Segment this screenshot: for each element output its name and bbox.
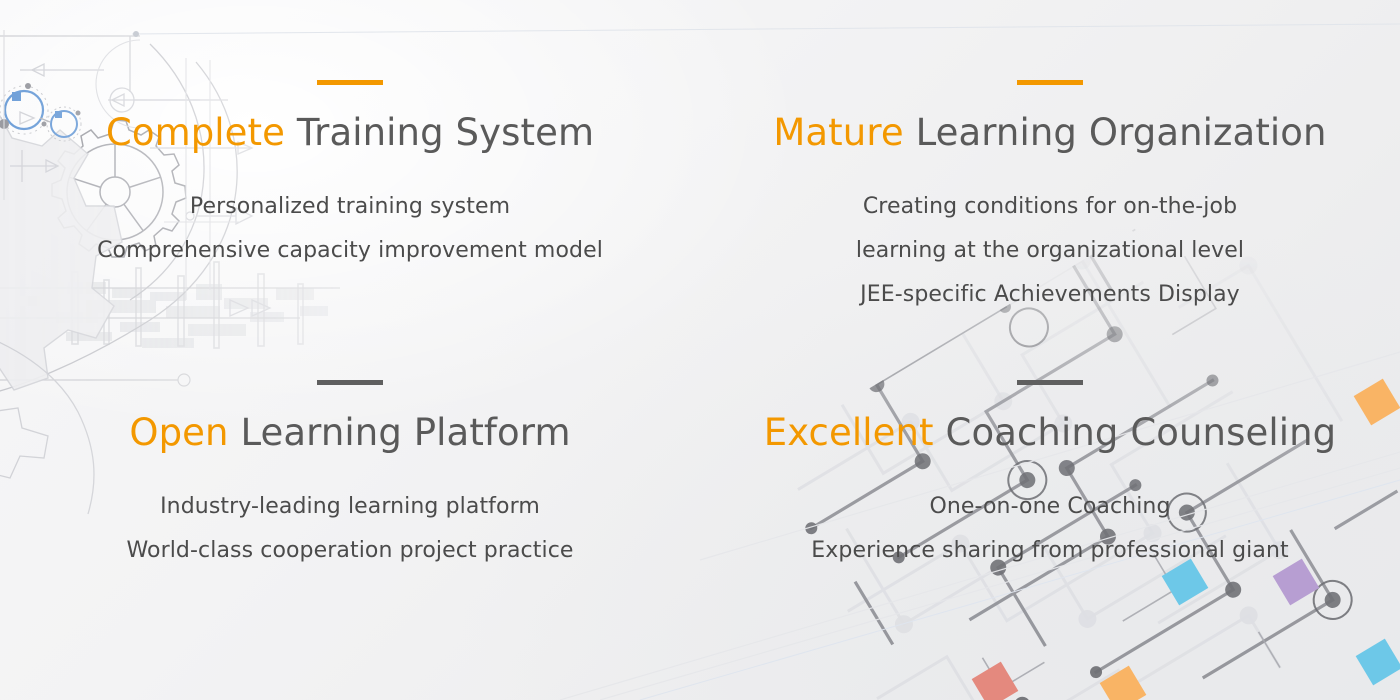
panel-line: JEE-specific Achievements Display <box>860 273 1240 317</box>
panel-lines: Industry-leading learning platform World… <box>126 485 573 573</box>
panel-open-learning-platform: Open Learning Platform Industry-leading … <box>0 350 700 700</box>
panel-line: Creating conditions for on-the-job <box>863 185 1237 229</box>
panel-lines: One-on-one Coaching Experience sharing f… <box>811 485 1288 573</box>
panel-lines: Personalized training system Comprehensi… <box>97 185 603 273</box>
panel-line: One-on-one Coaching <box>929 485 1170 529</box>
panel-title-highlight: Open <box>129 411 228 454</box>
panel-title-rest: Learning Platform <box>229 411 571 454</box>
panel-divider <box>317 80 383 85</box>
panel-title-rest: Learning Organization <box>904 111 1327 154</box>
panel-title: Complete Training System <box>106 114 594 151</box>
panel-title: Open Learning Platform <box>129 414 570 451</box>
panel-divider <box>1017 80 1083 85</box>
panel-line: Experience sharing from professional gia… <box>811 529 1288 573</box>
panel-divider <box>317 380 383 385</box>
panel-title-highlight: Mature <box>773 111 903 154</box>
panel-complete-training-system: Complete Training System Personalized tr… <box>0 0 700 350</box>
panel-line: Personalized training system <box>190 185 510 229</box>
panel-title: Excellent Coaching Counseling <box>764 414 1337 451</box>
panel-lines: Creating conditions for on-the-job learn… <box>856 185 1244 317</box>
panel-line: learning at the organizational level <box>856 229 1244 273</box>
panel-title-rest: Training System <box>285 111 594 154</box>
panel-title-highlight: Excellent <box>764 411 934 454</box>
feature-grid: Complete Training System Personalized tr… <box>0 0 1400 700</box>
panel-line: Comprehensive capacity improvement model <box>97 229 603 273</box>
panel-title-rest: Coaching Counseling <box>934 411 1337 454</box>
slide-canvas: Complete Training System Personalized tr… <box>0 0 1400 700</box>
panel-line: World-class cooperation project practice <box>126 529 573 573</box>
panel-title: Mature Learning Organization <box>773 114 1326 151</box>
panel-title-highlight: Complete <box>106 111 285 154</box>
panel-divider <box>1017 380 1083 385</box>
panel-mature-learning-organization: Mature Learning Organization Creating co… <box>700 0 1400 350</box>
panel-excellent-coaching-counseling: Excellent Coaching Counseling One-on-one… <box>700 350 1400 700</box>
panel-line: Industry-leading learning platform <box>160 485 540 529</box>
